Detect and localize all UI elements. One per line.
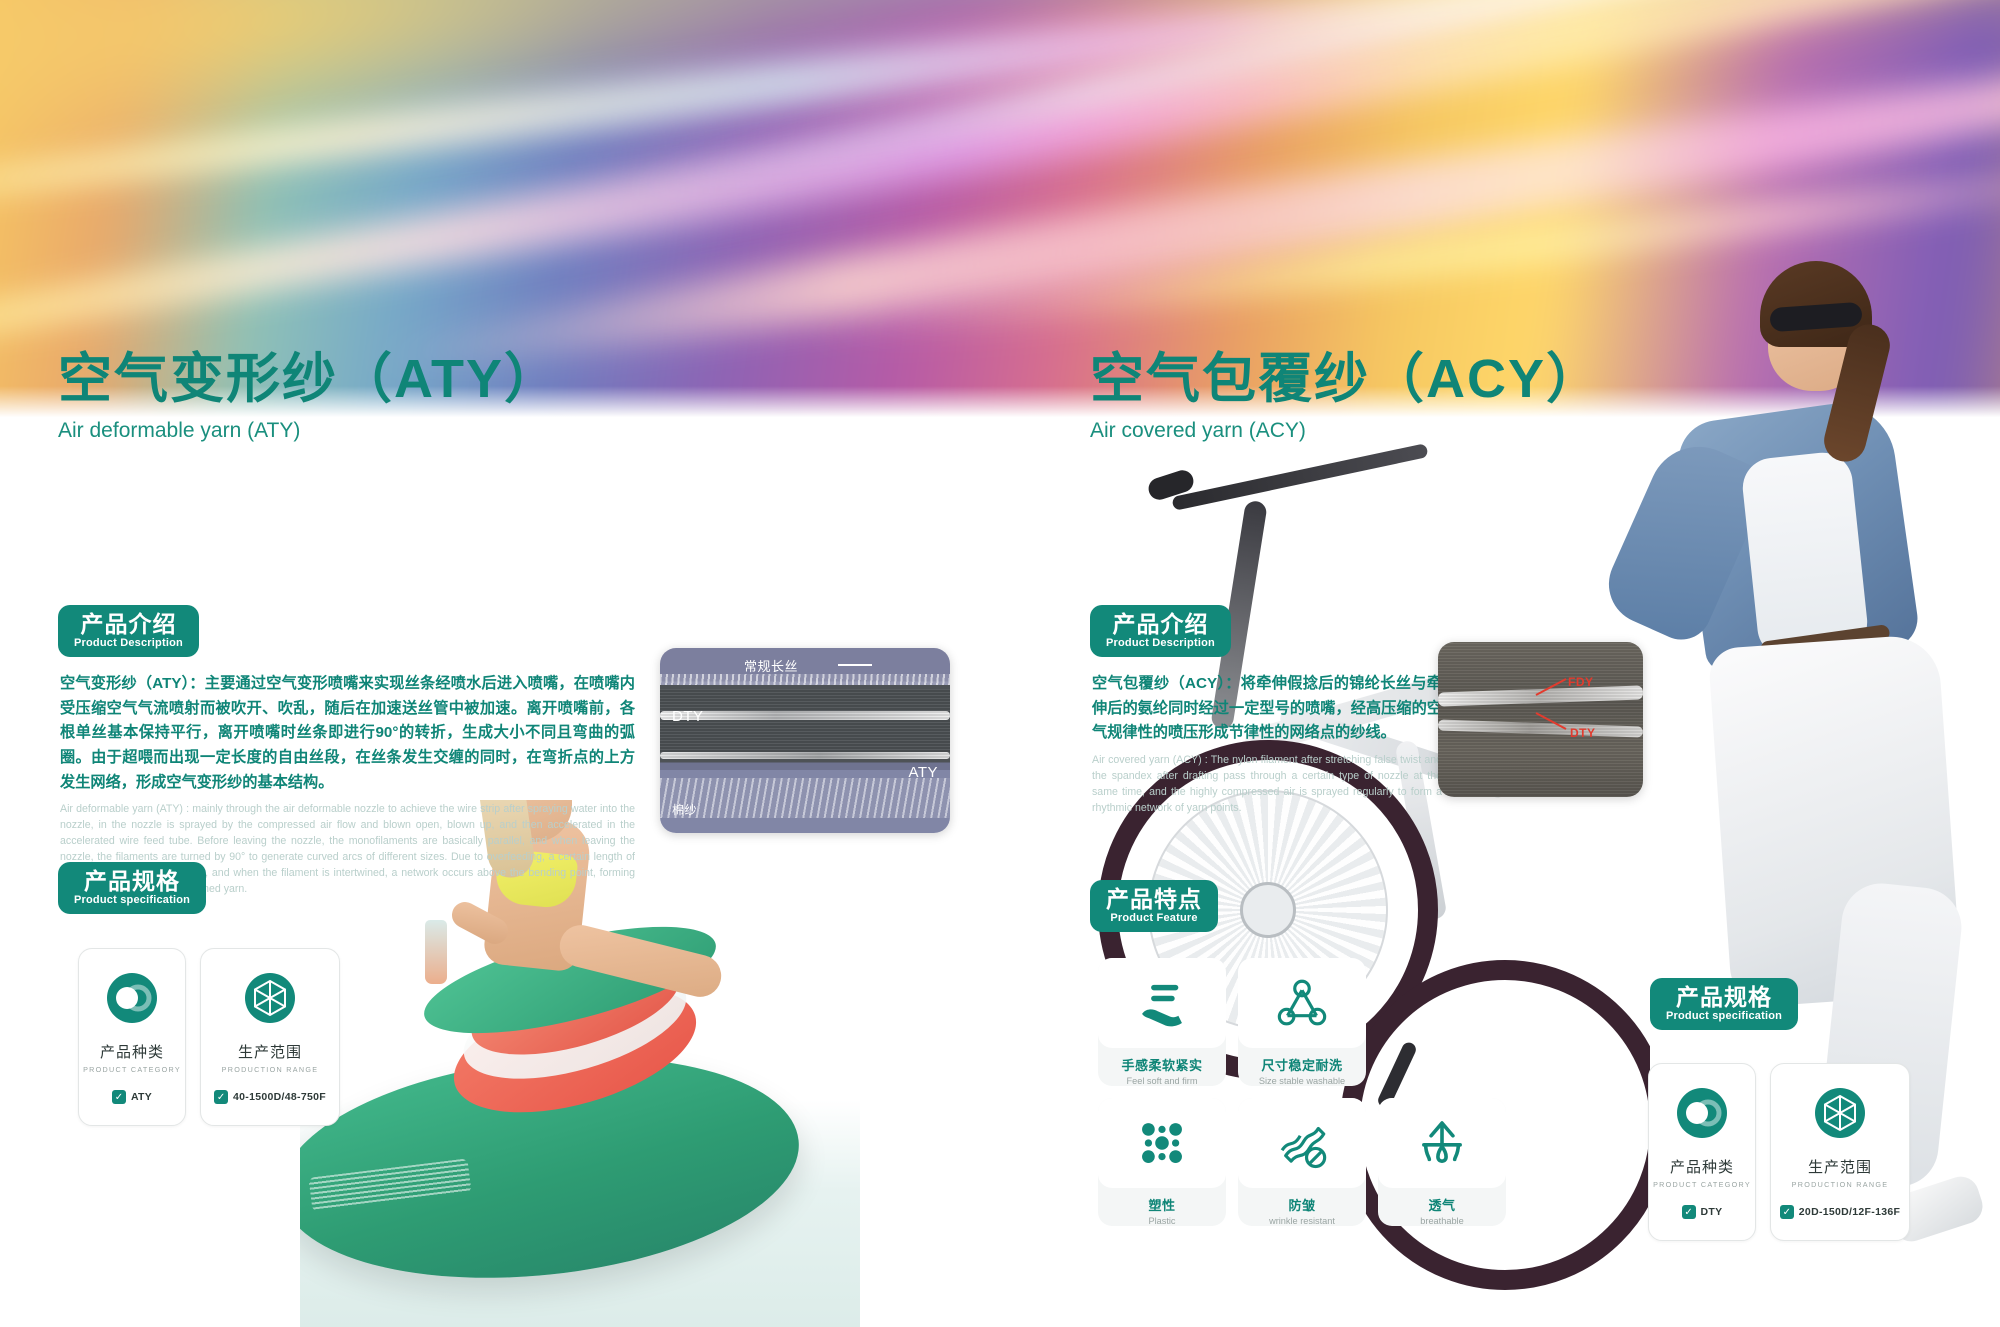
spec-title-cn: 生产范围 [1808, 1156, 1872, 1177]
acy-description-en: Air covered yarn (ACY) : The nylon filam… [1092, 753, 1442, 817]
feature-icon-box [1098, 958, 1226, 1048]
acy-product-specification-tag: 产品规格 Product specification [1650, 978, 1798, 1030]
arrow-icon [838, 664, 872, 666]
spec-title-cn: 生产范围 [238, 1041, 302, 1062]
feature-label-en: Feel soft and firm [1127, 1076, 1198, 1086]
feature-cell-breathable[interactable]: 透气 breathable [1378, 1098, 1506, 1226]
feature-label-en: Size stable washable [1259, 1076, 1345, 1086]
spec-value: 40-1500D/48-750F [233, 1091, 326, 1103]
micrograph-label-dty: DTY [1570, 726, 1596, 740]
feature-label-cn: 尺寸稳定耐洗 [1261, 1055, 1342, 1074]
aty-title-cn: 空气变形纱（ATY） [58, 350, 560, 409]
acy-title-cn: 空气包覆纱（ACY） [1090, 350, 1602, 409]
acy-spec-cards: 产品种类 PRODUCT CATEGORY ✓ DTY 生产范围 PRODUCT… [1648, 1063, 1910, 1241]
feature-icon-box [1098, 1098, 1226, 1188]
brochure-page: 空气变形纱（ATY） Air deformable yarn (ATY) 产品介… [0, 0, 2000, 1327]
micrograph-label-regular-filament: 常规长丝 [744, 656, 798, 675]
spec-value-row: ✓ 20D-150D/12F-136F [1780, 1205, 1900, 1219]
aty-title-en: Air deformable yarn (ATY) [58, 419, 560, 443]
spec-card-product-category[interactable]: 产品种类 PRODUCT CATEGORY ✓ ATY [78, 948, 186, 1126]
product-category-icon [105, 971, 159, 1025]
feature-label-en: Plastic [1148, 1216, 1175, 1226]
tag-label-en: Product specification [1666, 1010, 1782, 1022]
micrograph-label-fdy: FDY [1568, 675, 1594, 689]
aty-product-specification-tag: 产品规格 Product specification [58, 862, 206, 914]
aty-product-description-tag: 产品介绍 Product Description [58, 605, 199, 657]
breathable-icon [1413, 1114, 1471, 1172]
tag-label-cn: 产品介绍 [1106, 612, 1215, 636]
aty-micrograph-card: 常规长丝 DTY ATY 棉纱 [660, 648, 950, 833]
soft-hand-icon [1133, 974, 1191, 1032]
tag-label-cn: 产品介绍 [74, 612, 183, 636]
tag-label-cn: 产品规格 [1666, 985, 1782, 1009]
tag-label-cn: 产品规格 [74, 869, 190, 893]
dots-grid-icon [1133, 1114, 1191, 1172]
feature-cell-soft-hand[interactable]: 手感柔软紧实 Feel soft and firm [1098, 958, 1226, 1086]
tag-label-en: Product Description [74, 637, 183, 649]
spec-value-row: ✓ 40-1500D/48-750F [214, 1090, 326, 1104]
micrograph-label-aty: ATY [908, 764, 938, 781]
spec-title-en: PRODUCT CATEGORY [1653, 1180, 1751, 1189]
feature-cell-plastic[interactable]: 塑性 Plastic [1098, 1098, 1226, 1226]
feature-label-en: wrinkle resistant [1269, 1216, 1335, 1226]
acy-micrograph-card: FDY DTY [1438, 642, 1643, 797]
micrograph-label-cotton-yarn: 棉纱 [672, 801, 697, 818]
feature-icon-box [1238, 958, 1366, 1048]
acy-product-feature-tag: 产品特点 Product Feature [1090, 880, 1218, 932]
check-icon: ✓ [214, 1090, 228, 1104]
triangle-nodes-icon [1273, 974, 1331, 1032]
feature-icon-box [1378, 1098, 1506, 1188]
aty-heading-block: 空气变形纱（ATY） Air deformable yarn (ATY) [58, 350, 560, 443]
feature-label-cn: 塑性 [1148, 1195, 1175, 1214]
feature-label-cn: 防皱 [1288, 1195, 1315, 1214]
spec-title-cn: 产品种类 [1670, 1156, 1734, 1177]
spec-card-product-category[interactable]: 产品种类 PRODUCT CATEGORY ✓ DTY [1648, 1063, 1756, 1241]
spec-value-row: ✓ DTY [1682, 1205, 1723, 1219]
check-icon: ✓ [1682, 1205, 1696, 1219]
feature-grid-gap [1378, 958, 1506, 1086]
feature-icon-box [1238, 1098, 1366, 1188]
spec-title-cn: 产品种类 [100, 1041, 164, 1062]
aty-description-cn: 空气变形纱（ATY）：主要通过空气变形喷嘴来实现丝条经喷水后进入喷嘴，在喷嘴内受… [60, 672, 635, 795]
spec-title-en: PRODUCTION RANGE [1792, 1180, 1889, 1189]
micrograph-label-dty: DTY [672, 708, 704, 725]
acy-product-description-tag: 产品介绍 Product Description [1090, 605, 1231, 657]
feature-cell-size-stable[interactable]: 尺寸稳定耐洗 Size stable washable [1238, 958, 1366, 1086]
product-category-icon [1675, 1086, 1729, 1140]
spec-card-production-range[interactable]: 生产范围 PRODUCTION RANGE ✓ 40-1500D/48-750F [200, 948, 340, 1126]
spec-title-en: PRODUCTION RANGE [222, 1065, 319, 1074]
feature-cell-wrinkle-resistant[interactable]: 防皱 wrinkle resistant [1238, 1098, 1366, 1226]
spec-value-row: ✓ ATY [112, 1090, 152, 1104]
acy-title-en: Air covered yarn (ACY) [1090, 419, 1602, 443]
spec-value: DTY [1701, 1206, 1723, 1218]
tag-label-en: Product specification [74, 894, 190, 906]
spec-title-en: PRODUCT CATEGORY [83, 1065, 181, 1074]
check-icon: ✓ [1780, 1205, 1794, 1219]
feature-label-cn: 手感柔软紧实 [1121, 1055, 1202, 1074]
check-icon: ✓ [112, 1090, 126, 1104]
tag-label-cn: 产品特点 [1106, 887, 1202, 911]
production-range-icon [1813, 1086, 1867, 1140]
spec-card-production-range[interactable]: 生产范围 PRODUCTION RANGE ✓ 20D-150D/12F-136… [1770, 1063, 1910, 1241]
spec-value: ATY [131, 1091, 152, 1103]
acy-feature-grid: 手感柔软紧实 Feel soft and firm 尺寸稳定耐洗 Size st… [1098, 958, 1506, 1226]
tag-label-en: Product Description [1106, 637, 1215, 649]
production-range-icon [243, 971, 297, 1025]
acy-description-cn: 空气包覆纱（ACY）：将牵伸假捻后的锦纶长丝与牵伸后的氨纶同时经过一定型号的喷嘴… [1092, 672, 1442, 746]
acy-heading-block: 空气包覆纱（ACY） Air covered yarn (ACY) [1090, 350, 1602, 443]
aty-spec-cards: 产品种类 PRODUCT CATEGORY ✓ ATY 生产范围 PRODUCT… [78, 948, 340, 1126]
wrinkle-resistant-icon [1273, 1114, 1331, 1172]
feature-label-cn: 透气 [1428, 1195, 1455, 1214]
tag-label-en: Product Feature [1106, 912, 1202, 924]
spec-value: 20D-150D/12F-136F [1799, 1206, 1900, 1218]
feature-label-en: breathable [1420, 1216, 1463, 1226]
